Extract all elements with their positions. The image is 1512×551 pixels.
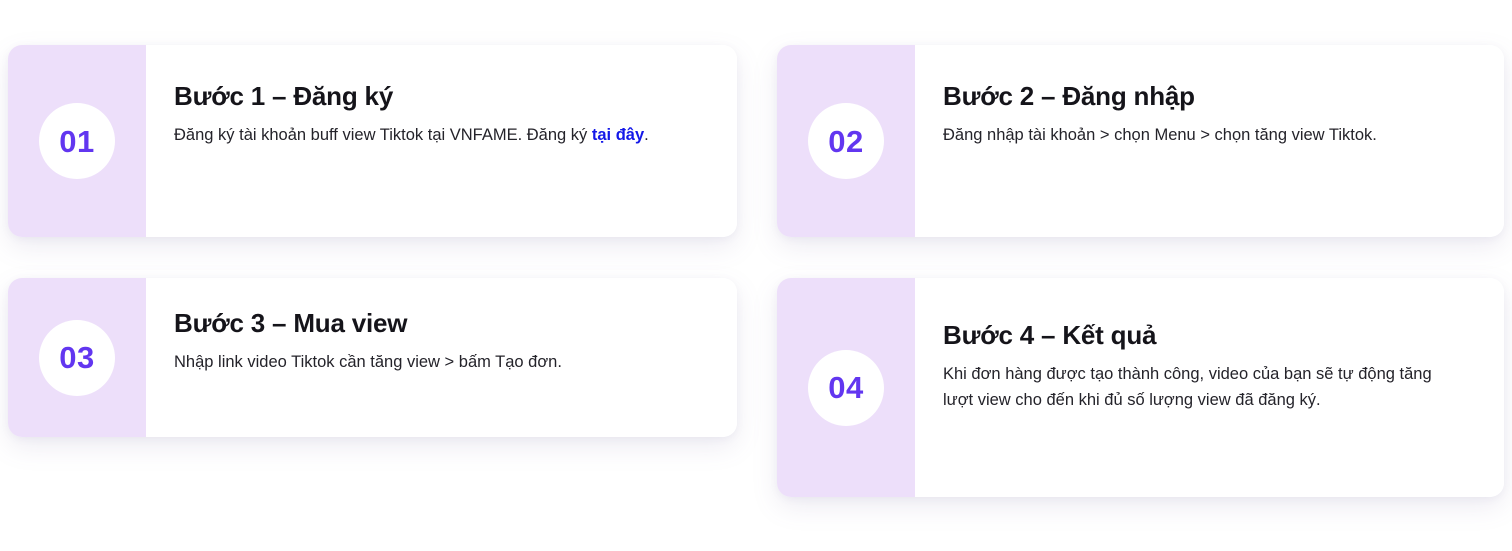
step-number-03: 03 [59,342,94,373]
step-badge-circle-02: 02 [808,103,884,179]
step-desc-tail-01: . [644,126,649,144]
step-content-03: Bước 3 – Mua view Nhập link video Tiktok… [146,278,737,437]
steps-grid: 01 Bước 1 – Đăng ký Đăng ký tài khoản bu… [0,0,1512,551]
step-title-03: Bước 3 – Mua view [174,308,697,339]
step-description-03: Nhập link video Tiktok cần tăng view > b… [174,349,694,376]
step-badge-circle-03: 03 [39,320,115,396]
step-badge-circle-04: 04 [808,350,884,426]
step-title-04: Bước 4 – Kết quả [943,320,1464,351]
step-badge-panel-01: 01 [8,45,146,237]
step-content-04: Bước 4 – Kết quả Khi đơn hàng được tạo t… [915,278,1504,497]
register-here-link[interactable]: tại đây [592,126,644,144]
step-badge-panel-03: 03 [8,278,146,437]
step-description-01: Đăng ký tài khoản buff view Tiktok tại V… [174,122,694,149]
step-card-02: 02 Bước 2 – Đăng nhập Đăng nhập tài khoả… [777,45,1504,237]
step-badge-panel-02: 02 [777,45,915,237]
step-number-02: 02 [828,126,863,157]
step-desc-text-01: Đăng ký tài khoản buff view Tiktok tại V… [174,126,592,144]
step-badge-panel-04: 04 [777,278,915,497]
step-number-01: 01 [59,126,94,157]
step-card-03: 03 Bước 3 – Mua view Nhập link video Tik… [8,278,737,437]
step-content-01: Bước 1 – Đăng ký Đăng ký tài khoản buff … [146,45,737,237]
step-description-02: Đăng nhập tài khoản > chọn Menu > chọn t… [943,122,1463,149]
step-content-02: Bước 2 – Đăng nhập Đăng nhập tài khoản >… [915,45,1504,237]
step-card-04: 04 Bước 4 – Kết quả Khi đơn hàng được tạ… [777,278,1504,497]
step-title-02: Bước 2 – Đăng nhập [943,81,1464,112]
step-title-01: Bước 1 – Đăng ký [174,81,697,112]
step-badge-circle-01: 01 [39,103,115,179]
step-card-01: 01 Bước 1 – Đăng ký Đăng ký tài khoản bu… [8,45,737,237]
step-number-04: 04 [828,372,863,403]
step-description-04: Khi đơn hàng được tạo thành công, video … [943,361,1463,414]
